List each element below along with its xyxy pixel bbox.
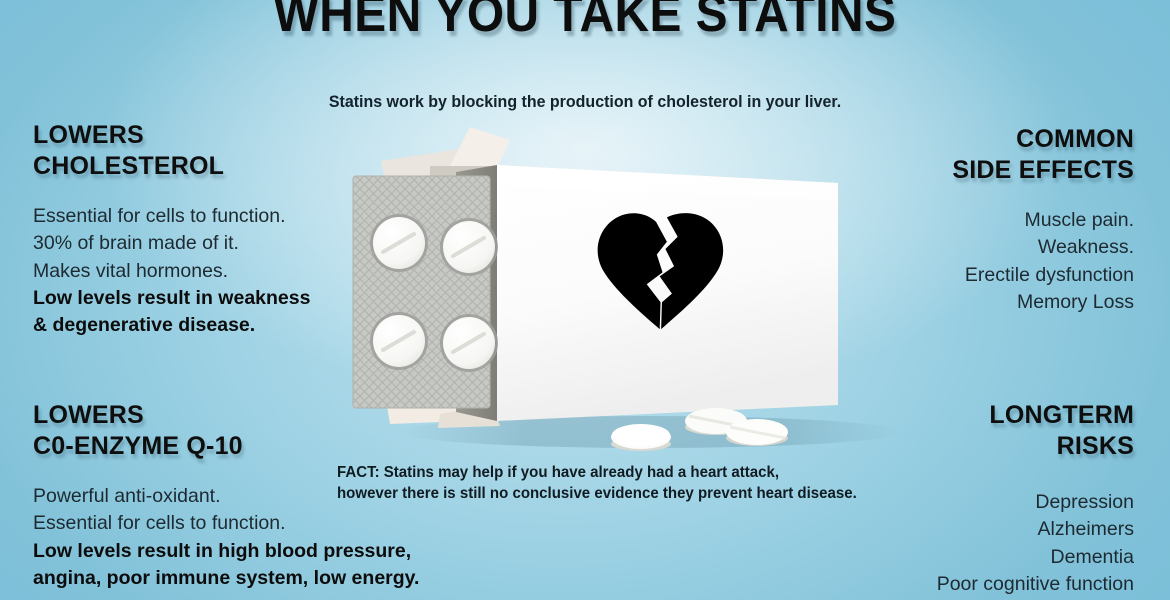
heading-line-1: LOWERS — [33, 120, 453, 151]
body-line-emphasis: angina, poor immune system, low energy. — [33, 565, 513, 592]
body-line: 30% of brain made of it. — [33, 230, 453, 257]
body-line-emphasis: & degenerative disease. — [33, 312, 453, 339]
body-line: Erectile dysfunction — [804, 262, 1134, 289]
heading-line-1: COMMON — [804, 124, 1134, 155]
loose-pill — [726, 419, 788, 446]
box-front-face — [497, 165, 838, 421]
body-line: Dementia — [804, 544, 1134, 571]
body-line: Essential for cells to function. — [33, 203, 453, 230]
page-subtitle: Statins work by blocking the production … — [35, 92, 1135, 112]
section-heading: LOWERS C0-ENZYME Q-10 — [33, 400, 513, 462]
body-line: Muscle pain. — [804, 207, 1134, 234]
infographic-canvas: WHEN YOU TAKE STATINS Statins work by bl… — [0, 0, 1170, 600]
body-line: Essential for cells to function. — [33, 510, 513, 537]
section-heading: COMMON SIDE EFFECTS — [804, 124, 1134, 186]
section-body: Depression Alzheimers Dementia Poor cogn… — [804, 489, 1134, 598]
fact-line-1: FACT: Statins may help if you have alrea… — [337, 462, 938, 483]
heading-line-1: LOWERS — [33, 400, 513, 431]
body-line: Weakness. — [804, 234, 1134, 261]
section-body: Essential for cells to function. 30% of … — [33, 203, 453, 339]
body-line: Alzheimers — [804, 516, 1134, 543]
section-heading: LONGTERM RISKS — [804, 400, 1134, 462]
section-lowers-cholesterol: LOWERS CHOLESTEROL Essential for cells t… — [33, 120, 453, 339]
heading-line-2: SIDE EFFECTS — [804, 155, 1134, 186]
section-heading: LOWERS CHOLESTEROL — [33, 120, 453, 182]
body-line: Makes vital hormones. — [33, 258, 453, 285]
loose-pill — [611, 424, 671, 451]
body-line-emphasis: Low levels result in weakness — [33, 285, 453, 312]
body-line: Poor cognitive function — [804, 571, 1134, 598]
section-body: Muscle pain. Weakness. Erectile dysfunct… — [804, 207, 1134, 316]
body-line: Memory Loss — [804, 289, 1134, 316]
heading-line-2: C0-ENZYME Q-10 — [33, 431, 513, 462]
fact-note: FACT: Statins may help if you have alrea… — [337, 462, 938, 505]
heading-line-2: RISKS — [804, 431, 1134, 462]
section-common-side-effects: COMMON SIDE EFFECTS Muscle pain. Weaknes… — [804, 124, 1134, 316]
body-line-emphasis: Low levels result in high blood pressure… — [33, 538, 513, 565]
heading-line-2: CHOLESTEROL — [33, 151, 453, 182]
page-title: WHEN YOU TAKE STATINS — [47, 0, 1123, 44]
fact-line-2: however there is still no conclusive evi… — [337, 483, 938, 504]
heading-line-1: LONGTERM — [804, 400, 1134, 431]
